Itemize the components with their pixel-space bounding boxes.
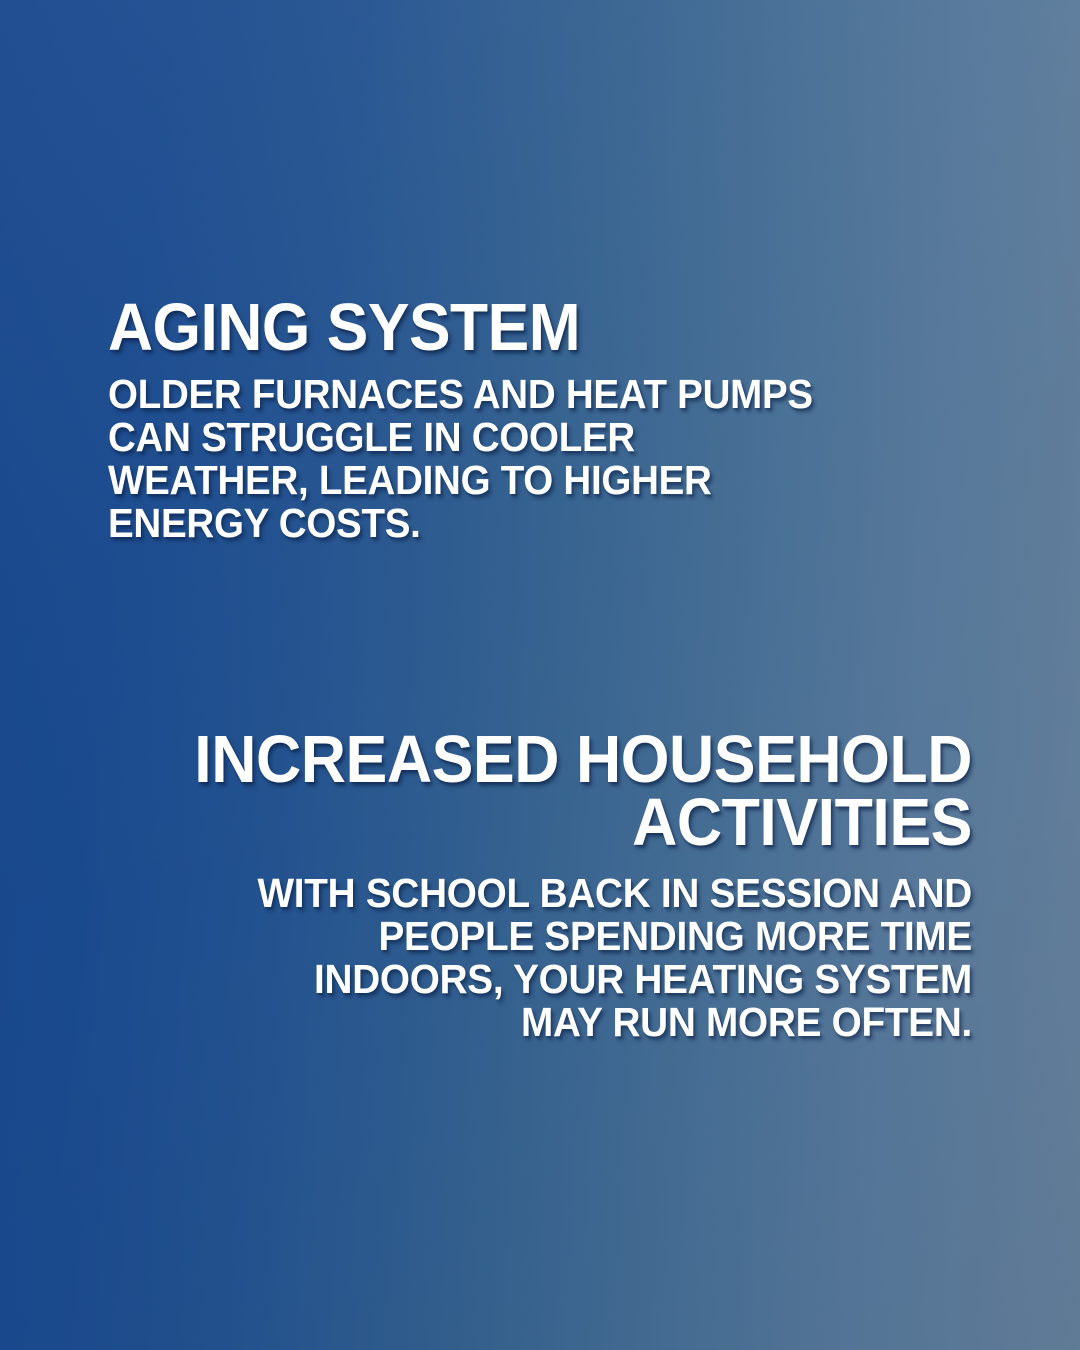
body-text-increased-household-activities: WITH SCHOOL BACK IN SESSION AND PEOPLE S…: [139, 872, 972, 1044]
content-block-increased-household-activities: INCREASED HOUSEHOLD ACTIVITIES WITH SCHO…: [90, 728, 972, 1044]
slide-canvas: AGING SYSTEM OLDER FURNACES AND HEAT PUM…: [0, 0, 1080, 1350]
content-block-aging-system: AGING SYSTEM OLDER FURNACES AND HEAT PUM…: [108, 296, 988, 545]
body-text-aging-system: OLDER FURNACES AND HEAT PUMPS CAN STRUGG…: [108, 373, 935, 545]
headline-aging-system: AGING SYSTEM: [108, 296, 926, 359]
headline-increased-household-activities: INCREASED HOUSEHOLD ACTIVITIES: [147, 728, 972, 854]
